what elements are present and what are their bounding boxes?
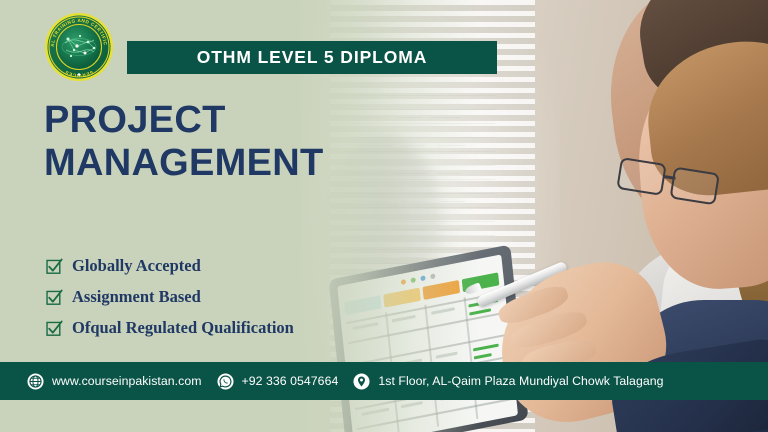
contact-footer-bar: www.courseinpakistan.com +92 336 0547664 [0,362,768,400]
checkbox-checked-icon [46,320,63,337]
checkbox-checked-icon [46,258,63,275]
footer-website[interactable]: www.courseinpakistan.com [27,373,202,390]
whatsapp-icon [217,373,234,390]
global-training-certification-services-logo: GLOBAL TRAINING AND CERTIFICATION SERVIC… [44,12,114,82]
promotional-banner: GLOBAL TRAINING AND CERTIFICATION SERVIC… [0,0,768,432]
footer-address[interactable]: 1st Floor, AL-Qaim Plaza Mundiyal Chowk … [353,373,663,390]
list-item-label: Globally Accepted [72,256,201,276]
list-item: Globally Accepted [46,256,294,276]
course-level-ribbon: OTHM LEVEL 5 DIPLOMA [127,41,497,74]
ribbon-label: OTHM LEVEL 5 DIPLOMA [197,47,428,68]
website-label: www.courseinpakistan.com [52,374,202,388]
headline-line-1: PROJECT [44,99,374,142]
checkbox-checked-icon [46,289,63,306]
list-item: Assignment Based [46,287,294,307]
page-title: PROJECT MANAGEMENT [44,99,374,186]
headline-line-2: MANAGEMENT [44,142,374,185]
feature-list: Globally Accepted Assignment Based Ofqua… [46,256,294,349]
address-label: 1st Floor, AL-Qaim Plaza Mundiyal Chowk … [378,374,663,388]
phone-label: +92 336 0547664 [242,374,339,388]
list-item-label: Assignment Based [72,287,201,307]
list-item-label: Ofqual Regulated Qualification [72,318,294,338]
list-item: Ofqual Regulated Qualification [46,318,294,338]
location-pin-icon [353,373,370,390]
globe-icon [27,373,44,390]
footer-phone[interactable]: +92 336 0547664 [217,373,339,390]
